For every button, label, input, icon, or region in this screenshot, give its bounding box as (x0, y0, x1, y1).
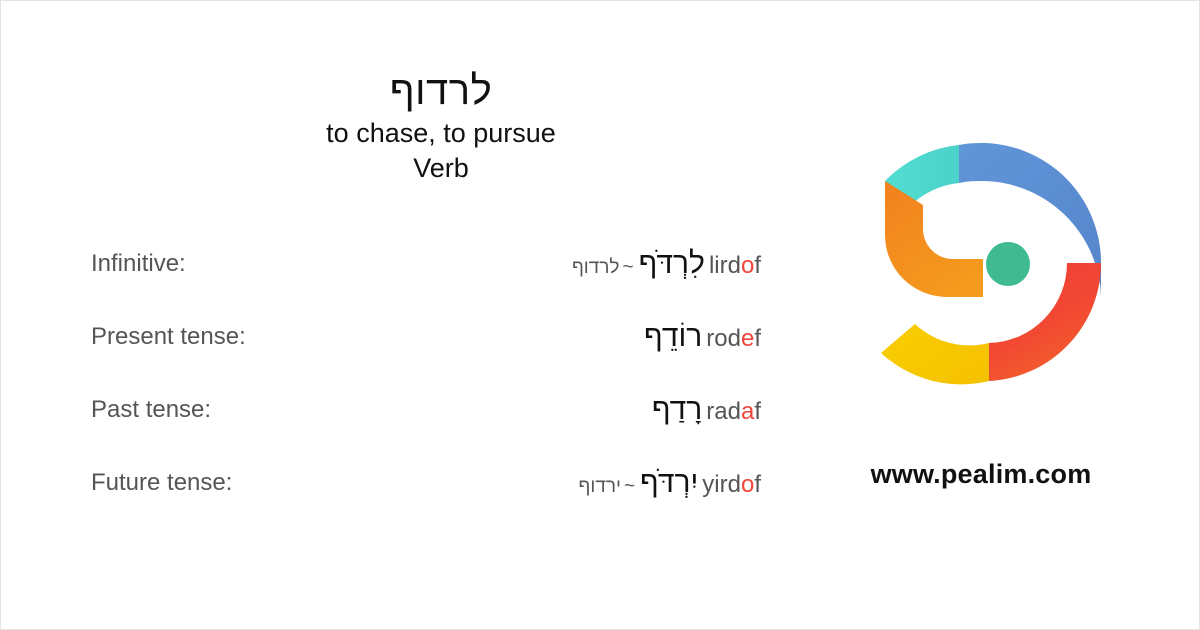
transliteration-present: rodef (706, 325, 761, 352)
translit-part: f (754, 398, 761, 425)
translit-part: lird (709, 252, 741, 279)
transliteration-past: radaf (706, 398, 761, 425)
separator-future: ~ (621, 476, 638, 497)
translit-stress: e (741, 325, 754, 352)
row-label-infinitive: Infinitive: (91, 244, 186, 284)
row-value-future: ירדוף~יִרְדֹּףyirdof (579, 463, 761, 508)
row-value-present: רוֹדֵףrodef (636, 317, 761, 362)
logo-dot-green (986, 242, 1030, 286)
hebrew-form-present: רוֹדֵף (642, 320, 706, 353)
header: לרדוף to chase, to pursue Verb (1, 69, 881, 186)
translit-part: rad (706, 398, 741, 425)
hebrew-form-infinitive: לִרְדֹּף (637, 247, 709, 280)
conjugation-table: Infinitive: לרדוף~לִרְדֹּףlirdof Present… (91, 244, 761, 536)
word-meaning: to chase, to pursue (1, 116, 881, 151)
logo-arc-yellow (881, 324, 989, 384)
translit-part: f (754, 325, 761, 352)
hebrew-form-past: רָדַף (650, 393, 706, 426)
transliteration-future: yirdof (702, 471, 761, 498)
page-title-hebrew: לרדוף (1, 69, 881, 114)
row-value-past: רָדַףradaf (644, 390, 761, 435)
separator-past (644, 403, 650, 424)
hebrew-form-future: יִרְדֹּף (638, 466, 702, 499)
alt-form-future: ירדוף (579, 476, 621, 497)
pealim-logo-icon (863, 123, 1113, 393)
row-value-infinitive: לרדוף~לִרְדֹּףlirdof (572, 244, 761, 289)
logo-arc-orange (885, 181, 983, 297)
table-row: Future tense: ירדוף~יִרְדֹּףyirdof (91, 463, 761, 536)
table-row: Infinitive: לרדוף~לִרְדֹּףlirdof (91, 244, 761, 317)
translit-stress: o (741, 471, 754, 498)
table-row: Past tense: רָדַףradaf (91, 390, 761, 463)
translit-part: f (754, 252, 761, 279)
row-label-present: Present tense: (91, 317, 246, 357)
transliteration-infinitive: lirdof (709, 252, 761, 279)
alt-form-infinitive: לרדוף (572, 257, 620, 278)
translit-part: rod (706, 325, 741, 352)
row-label-past: Past tense: (91, 390, 211, 430)
row-label-future: Future tense: (91, 463, 232, 503)
separator-infinitive: ~ (620, 257, 637, 278)
site-url: www.pealim.com (821, 459, 1141, 490)
translit-part: f (754, 471, 761, 498)
translit-part: yird (702, 471, 741, 498)
translit-stress: a (741, 398, 754, 425)
table-row: Present tense: רוֹדֵףrodef (91, 317, 761, 390)
pealim-verb-card: לרדוף to chase, to pursue Verb Infinitiv… (0, 0, 1200, 630)
part-of-speech: Verb (1, 151, 881, 186)
translit-stress: o (741, 252, 754, 279)
